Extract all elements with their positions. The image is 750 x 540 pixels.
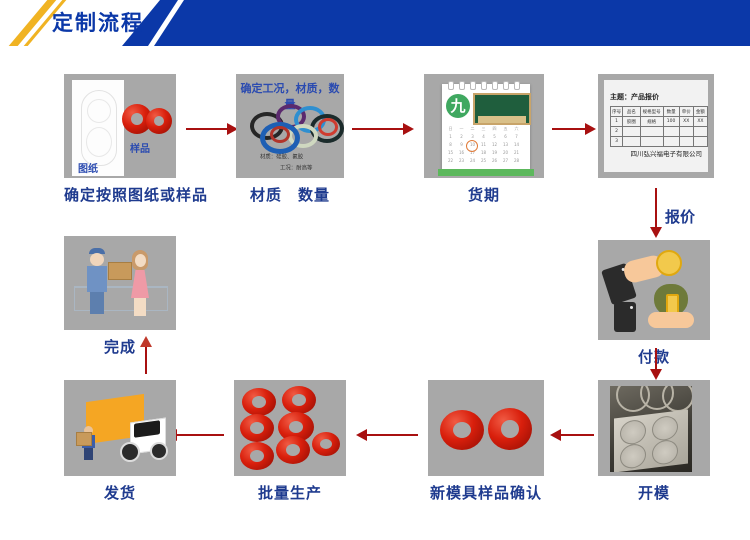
step-mass-production[interactable]: 批量生产: [234, 380, 346, 503]
step-drawing-or-sample[interactable]: 图纸 样品 确定按照图纸或样品: [64, 74, 176, 205]
step-completed-thumbnail: [64, 236, 176, 330]
cell-0-4: XX: [679, 117, 693, 127]
page-title: 定制流程: [52, 8, 144, 38]
th-2: 规格型号: [640, 107, 663, 117]
cell-2-1: [623, 137, 641, 147]
arrow-label-quotation: 报价: [665, 206, 695, 227]
calendar-today-marker: [466, 140, 478, 152]
cell-2-0: 3: [611, 137, 623, 147]
quotation-subject: 主题：产品报价: [610, 92, 659, 102]
material-note-1: 材质：硅胶、氟胶: [260, 152, 303, 160]
arrow-down-quotation: [650, 188, 662, 238]
shipping-package: [76, 432, 92, 446]
step-material-thumbnail: 确定工况，材质，数量 材质：硅胶、氟胶 工况：耐高等: [236, 74, 344, 178]
confirm-ring-1: [440, 410, 484, 450]
step-mass-production-thumbnail: [234, 380, 346, 476]
calendar-photo: [473, 93, 531, 125]
cell-1-1: [623, 127, 641, 137]
cell-2-3: [663, 137, 679, 147]
arrow-down-payment: [650, 348, 662, 380]
drawing-label: 图纸: [78, 160, 98, 175]
cell-2-5: [693, 137, 707, 147]
step-completed[interactable]: 完成: [64, 236, 176, 357]
step-shipping-caption: 发货: [64, 482, 176, 503]
arrow-right-1: [186, 123, 238, 135]
th-1: 品名: [623, 107, 641, 117]
courier-figure: [86, 250, 108, 314]
quotation-document: 主题：产品报价 序号 品名 规格型号 数量 单价 金额 1 胶圈 规格 100 …: [604, 80, 708, 172]
step-material-caption: 材质 数量: [236, 184, 344, 205]
cell-0-1: 胶圈: [623, 117, 641, 127]
production-ring-7: [240, 442, 274, 470]
money-bag-mark: [666, 294, 679, 314]
step-completed-caption: 完成: [64, 336, 176, 357]
cell-1-5: [693, 127, 707, 137]
sample-label: 样品: [130, 140, 150, 155]
cell-0-5: XX: [693, 117, 707, 127]
th-5: 金额: [693, 107, 707, 117]
hand-receiving: [648, 312, 694, 328]
cell-0-0: 1: [611, 117, 623, 127]
cell-1-4: [679, 127, 693, 137]
calendar-stand: [438, 169, 534, 176]
step-sample-confirm-caption: 新模具样品确认: [428, 482, 544, 503]
step-delivery-time[interactable]: 九 日一二 三四五 六 123 456 7 8910 111213 14 151…: [424, 74, 544, 205]
step-drawing-thumbnail: 图纸 样品: [64, 74, 176, 178]
mold-photo: [610, 386, 692, 472]
cell-0-2: 规格: [640, 117, 663, 127]
wallet-icon-2: [614, 302, 636, 332]
quotation-table: 序号 品名 规格型号 数量 单价 金额 1 胶圈 规格 100 XX XX 2: [610, 106, 708, 147]
step-delivery-caption: 货期: [424, 184, 544, 205]
coin-icon: [656, 250, 682, 276]
step-mass-production-caption: 批量生产: [234, 482, 346, 503]
production-ring-1: [242, 388, 276, 416]
material-note-2: 工况：耐高等: [280, 163, 312, 171]
step-material-quantity[interactable]: 确定工况，材质，数量 材质：硅胶、氟胶 工况：耐高等 材质 数量: [236, 74, 344, 205]
step-sample-confirm-thumbnail: [428, 380, 544, 476]
calendar-spiral-rings: [442, 81, 530, 88]
arrow-left-2: [356, 429, 418, 441]
arrow-right-2: [352, 123, 414, 135]
sample-ring-2: [146, 108, 172, 134]
step-shipping-thumbnail: [64, 380, 176, 476]
table-row: 2: [611, 127, 708, 137]
confirm-ring-2: [488, 408, 532, 450]
production-ring-6: [312, 432, 340, 456]
th-0: 序号: [611, 107, 623, 117]
table-row: 1 胶圈 规格 100 XX XX: [611, 117, 708, 127]
table-header-row: 序号 品名 规格型号 数量 单价 金额: [611, 107, 708, 117]
arrow-right-3: [552, 123, 596, 135]
oring-red: [318, 118, 338, 136]
step-drawing-caption: 确定按照图纸或样品: [64, 184, 176, 205]
production-ring-2: [282, 386, 316, 414]
step-delivery-thumbnail: 九 日一二 三四五 六 123 456 7 8910 111213 14 151…: [424, 74, 544, 178]
step-mold-thumbnail: [598, 380, 710, 476]
cell-2-2: [640, 137, 663, 147]
drawing-outline-shape: [81, 90, 117, 166]
calendar-month-number: 九: [446, 94, 470, 118]
desk-calendar-icon: 九 日一二 三四五 六 123 456 7 8910 111213 14 151…: [442, 84, 530, 170]
cell-2-4: [679, 137, 693, 147]
step-quotation-thumbnail: 主题：产品报价 序号 品名 规格型号 数量 单价 金额 1 胶圈 规格 100 …: [598, 74, 714, 178]
arrow-left-1: [550, 429, 594, 441]
step-quotation-sheet[interactable]: 主题：产品报价 序号 品名 规格型号 数量 单价 金额 1 胶圈 规格 100 …: [598, 74, 714, 178]
production-ring-3: [240, 414, 274, 442]
step-mold-caption: 开模: [598, 482, 710, 503]
cell-0-3: 100: [663, 117, 679, 127]
truck-wheel-front: [150, 442, 168, 460]
calendar-top-area: 九: [442, 90, 530, 124]
calendar-date-grid: 日一二 三四五 六 123 456 7 8910 111213 14 15161…: [446, 126, 526, 166]
th-3: 数量: [663, 107, 679, 117]
oring-red-2: [270, 126, 290, 143]
cell-1-3: [663, 127, 679, 137]
step-payment-thumbnail: [598, 240, 710, 340]
quotation-company-name: 四川弘兴福电子有限公司: [631, 148, 703, 158]
cell-1-0: 2: [611, 127, 623, 137]
page-header-banner: 定制流程: [0, 0, 750, 46]
cell-1-2: [640, 127, 663, 137]
th-4: 单价: [679, 107, 693, 117]
production-ring-5: [276, 436, 310, 464]
truck-wheel-rear: [120, 442, 140, 462]
customer-figure: [128, 250, 152, 316]
step-new-mold-sample-confirm[interactable]: 新模具样品确认: [428, 380, 544, 503]
step-shipping[interactable]: 发货: [64, 380, 176, 503]
mold-plate: [614, 409, 688, 472]
table-row: 3: [611, 137, 708, 147]
step-mold-making[interactable]: 开模: [598, 380, 710, 503]
